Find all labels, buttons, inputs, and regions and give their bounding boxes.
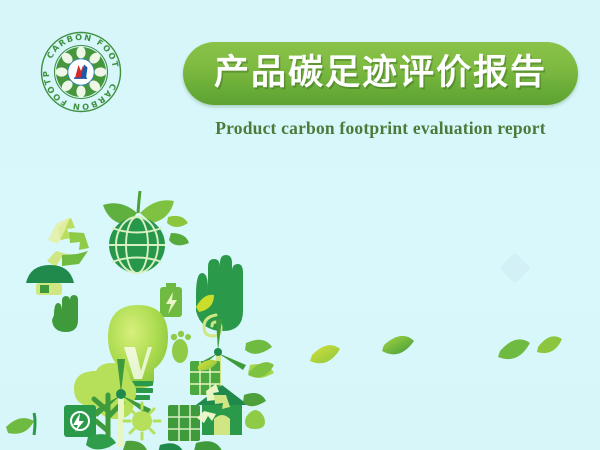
- plant-sprout-icon: [6, 413, 35, 435]
- cover-page: CARBON FOOTPRINT · CARBON FOOTPRINT ·: [0, 0, 600, 450]
- title-banner: 产品碳足迹评价报告: [183, 42, 578, 105]
- cloud-icon: [26, 265, 74, 295]
- water-drop-icon: [245, 410, 265, 429]
- leaf-icon: [86, 434, 222, 450]
- page-subtitle: Product carbon footprint evaluation repo…: [183, 118, 578, 139]
- eco-icon-collage-artwork: [0, 155, 600, 450]
- trash-bin-icon: [64, 405, 96, 437]
- leaf-icon: [167, 216, 189, 246]
- hand-icon: [52, 295, 78, 332]
- carbon-footprint-seal-logo: CARBON FOOTPRINT · CARBON FOOTPRINT ·: [40, 31, 122, 113]
- sun-icon: [124, 403, 160, 439]
- recycle-icon: [47, 217, 89, 267]
- solar-panel-icon: [168, 405, 200, 441]
- page-title: 产品碳足迹评价报告: [214, 56, 547, 91]
- cover-header: CARBON FOOTPRINT · CARBON FOOTPRINT ·: [0, 0, 600, 160]
- globe-icon: [109, 217, 165, 273]
- battery-icon: [160, 283, 182, 317]
- footprint-icon: [171, 331, 191, 363]
